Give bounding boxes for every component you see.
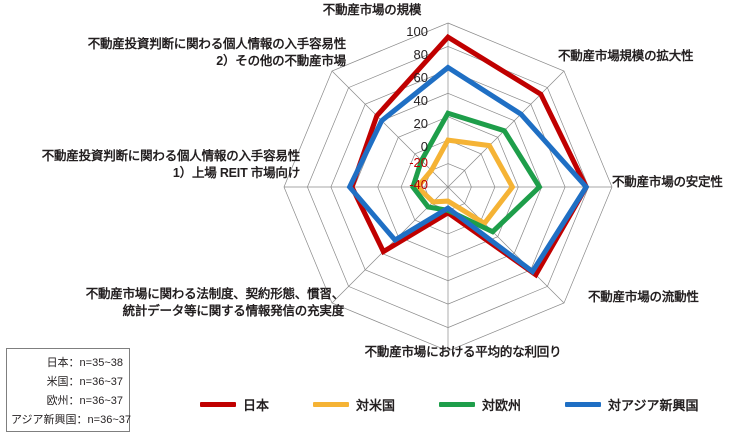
- legend-item-japan[interactable]: 日本: [200, 395, 269, 414]
- rtick-80: 80: [394, 47, 428, 62]
- axis-label-bottom: 不動産市場における平均的な利回り: [323, 344, 603, 361]
- axis-label-upper-right: 不動産市場規模の拡大性: [558, 48, 744, 65]
- rtick-minus20: -20: [394, 155, 428, 170]
- legend-swatch-icon: [313, 402, 349, 407]
- radar-series: [418, 140, 513, 223]
- legend-item-asia[interactable]: 対アジア新興国: [565, 395, 698, 414]
- rtick-0: 0: [394, 139, 428, 154]
- axis-label-lower-left: 不動産市場に関わる法制度、契約形態、慣習、 統計データ等に関する情報発信の充実度: [4, 286, 344, 320]
- legend-label: 日本: [243, 395, 269, 414]
- legend-item-us[interactable]: 対米国: [313, 395, 395, 414]
- legend-item-europe[interactable]: 対欧州: [439, 395, 521, 414]
- axis-label-left: 不動産投資判断に関わる個人情報の入手容易性 1）上場 REIT 市場向け: [0, 148, 300, 182]
- legend-label: 対欧州: [482, 395, 521, 414]
- legend-label: 対米国: [356, 395, 395, 414]
- legend-swatch-icon: [439, 402, 475, 407]
- rtick-40: 40: [394, 93, 428, 108]
- sample-size-row: 米国：n=36~37: [11, 373, 123, 392]
- axis-label-right: 不動産市場の安定性: [612, 174, 744, 191]
- sample-size-row: アジア新興国：n=36~37: [11, 411, 123, 430]
- axis-label-upper-left: 不動産投資判断に関わる個人情報の入手容易性 2）その他の不動産市場: [6, 36, 346, 70]
- rtick-60: 60: [394, 70, 428, 85]
- legend-label: 対アジア新興国: [608, 395, 698, 414]
- axis-label-lower-right: 不動産市場の流動性: [588, 289, 744, 306]
- sample-size-row: 欧州：n=36~37: [11, 392, 123, 411]
- sample-size-row: 日本：n=35~38: [11, 354, 123, 373]
- rtick-20: 20: [394, 116, 428, 131]
- chart-legend: 日本 対米国 対欧州 対アジア新興国: [200, 390, 744, 418]
- axis-label-top: 不動産市場の規模: [262, 2, 482, 19]
- legend-swatch-icon: [200, 402, 236, 407]
- radar-chart: 100 80 60 40 20 0 -20 -40 不動産市場の規模 不動産市場…: [0, 0, 744, 438]
- sample-size-box: 日本：n=35~38 米国：n=36~37 欧州：n=36~37 アジア新興国：…: [6, 348, 130, 432]
- rtick-100: 100: [394, 24, 428, 39]
- rtick-minus40: -40: [394, 177, 428, 192]
- legend-swatch-icon: [565, 402, 601, 407]
